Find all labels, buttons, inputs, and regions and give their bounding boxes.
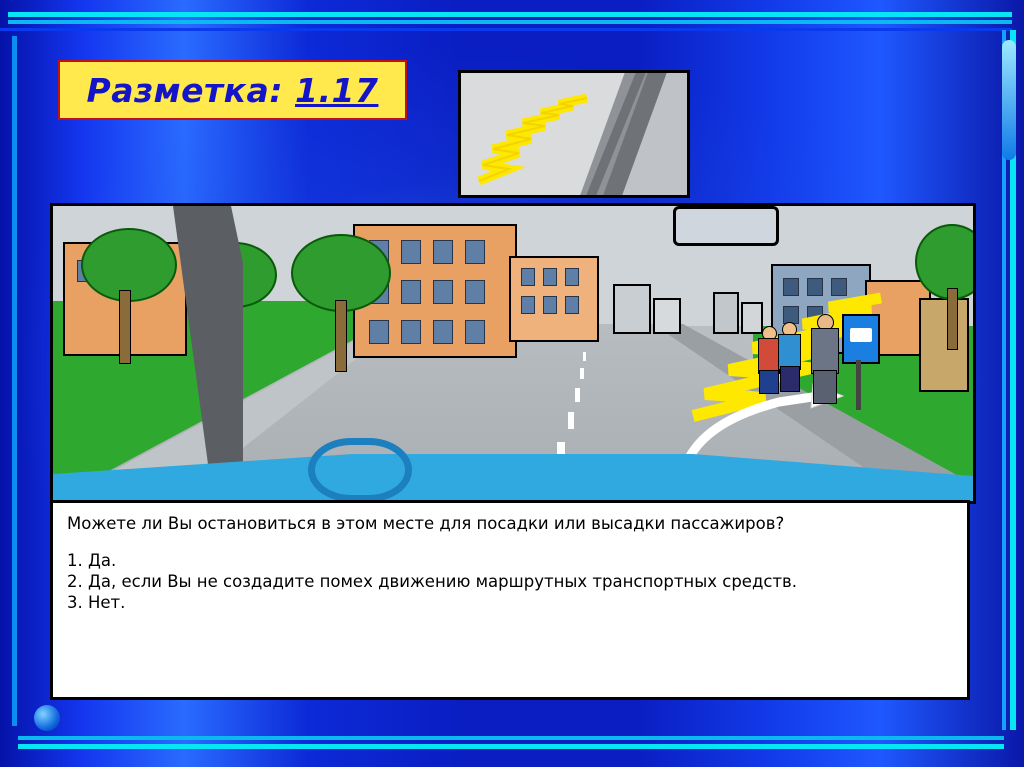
thumb-zigzag-marking-icon <box>461 73 687 195</box>
decor-left-bar <box>12 36 17 726</box>
question-text: Можете ли Вы остановиться в этом месте д… <box>67 513 953 534</box>
slide-background: Разметка: 1.17 <box>0 0 1024 767</box>
bus-stop-pole <box>856 360 861 410</box>
title-value: 1.17 <box>295 71 378 110</box>
title-prefix: Разметка: <box>87 71 295 110</box>
slide-content: Разметка: 1.17 <box>40 38 984 726</box>
decor-right-pill <box>1002 40 1016 160</box>
page-title: Разметка: 1.17 <box>58 60 407 120</box>
question-panel: Можете ли Вы остановиться в этом месте д… <box>50 500 970 700</box>
decor-top-bar-1 <box>8 12 1012 17</box>
decor-bottom-bar-2 <box>18 736 1004 740</box>
answers-list: 1. Да. 2. Да, если Вы не создадите помех… <box>67 550 953 613</box>
answer-option-1[interactable]: 1. Да. <box>67 550 953 571</box>
bus-stop-sign-icon <box>842 314 880 364</box>
steering-wheel <box>308 438 412 502</box>
answer-option-3[interactable]: 3. Нет. <box>67 592 953 613</box>
rearview-mirror <box>673 206 779 246</box>
marking-thumbnail <box>458 70 690 198</box>
scene-illustration <box>50 203 976 504</box>
decor-top-bar-2 <box>8 20 1012 24</box>
decor-bottom-bar-1 <box>18 744 1004 749</box>
decor-top-bar-3 <box>0 28 1012 31</box>
bus-glyph <box>850 328 872 342</box>
page-title-text: Разметка: 1.17 <box>87 71 379 110</box>
answer-option-2[interactable]: 2. Да, если Вы не создадите помех движен… <box>67 571 953 592</box>
